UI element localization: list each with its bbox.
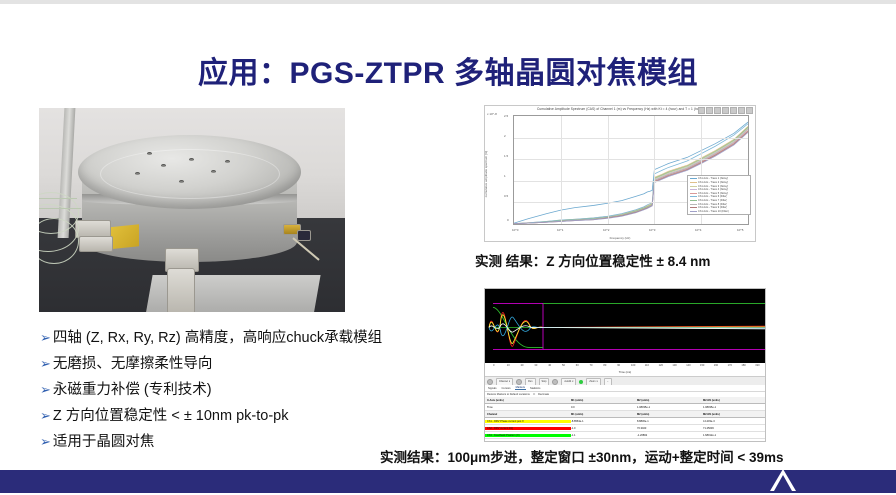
page-title: 应用：PGS-ZTPR 多轴晶圆对焦模组	[0, 48, 896, 92]
cell-m1: -8.8563e-1	[571, 420, 637, 423]
chart-y-exponent: x 10^-8	[487, 112, 497, 116]
cell-m1: -1.1	[571, 434, 637, 437]
scope-traces-group	[485, 289, 765, 363]
col-m2: M2 (units)	[637, 413, 703, 416]
scope-x-tick: 150	[700, 364, 704, 367]
tab-signals[interactable]: Signals	[487, 387, 498, 390]
cursor-icon[interactable]	[722, 107, 729, 114]
cell-m2: 70.3023	[637, 427, 703, 430]
zoom-in-icon[interactable]	[698, 107, 705, 114]
tab-cursors[interactable]: Cursors	[501, 387, 512, 390]
chart-y-tick: 0	[507, 218, 509, 222]
legend-swatch	[690, 207, 697, 208]
decimate-checkbox[interactable]: ☐	[533, 393, 535, 396]
pan-icon[interactable]	[714, 107, 721, 114]
datatip-icon[interactable]	[730, 107, 737, 114]
cell-m2: 8.8836e-1	[637, 420, 703, 423]
chart-caption: 实测 结果：Z 方向位置稳定性 ± 8.4 nm	[475, 250, 710, 270]
chart-x-tick: 10^4	[695, 228, 701, 232]
legend-label: Ch1 Axis - Trace 6 (Filter)	[698, 195, 727, 198]
zoom-out-icon[interactable]	[706, 107, 713, 114]
chart-toolbar[interactable]	[698, 107, 753, 114]
company-logo-icon	[762, 465, 804, 495]
table-row: Ch1 - DRV Phase current pos X-8.8563e-18…	[485, 418, 765, 425]
legend-swatch	[690, 204, 697, 205]
restore-markers-button[interactable]: Restore Markers to Default Locations	[487, 393, 530, 396]
chart-x-tick: 10^0	[512, 228, 518, 232]
list-item-label: Z 方向位置稳定性 < ± 10nm pk-to-pk	[53, 407, 289, 425]
list-item-label: 无磨损、无摩擦柔性导向	[53, 355, 213, 373]
list-item: ➢ 永磁重力补偿 (专利技术)	[40, 381, 440, 399]
table-row: Ch4 - Feedback Velocity (X)4.1036e-11.04…	[485, 439, 765, 442]
legend-swatch	[690, 211, 697, 212]
decimate-label: Decimate	[538, 393, 549, 396]
legend-swatch	[690, 189, 697, 190]
chart-x-tick: 10^3	[649, 228, 655, 232]
bullet-marker-icon: ➢	[40, 381, 51, 399]
chart-x-tick: 10^1	[557, 228, 563, 232]
scope-x-tick: 190	[755, 364, 759, 367]
list-item-label: 永磁重力补偿 (专利技术)	[53, 381, 212, 399]
col-m2m1: M2-M1 (units)	[703, 399, 765, 402]
scope-x-tick: 10	[507, 364, 510, 367]
chart-x-axis-label: Frequency (Hz)	[485, 236, 755, 240]
cell-m2: -1.20862	[637, 434, 703, 437]
scope-x-tick: 50	[562, 364, 565, 367]
table-row: Ch3 - Feedback Position (X)-1.1-1.208621…	[485, 432, 765, 439]
legend-icon[interactable]	[738, 107, 745, 114]
bullet-marker-icon: ➢	[40, 329, 51, 347]
cell-m2: 1.04351e-2	[637, 441, 703, 443]
legend-label: Ch1 Axis - Trace 1 (Noisy)	[698, 177, 728, 180]
photo-bolt-hole	[161, 164, 166, 167]
legend-swatch	[690, 200, 697, 201]
scope-x-tick: 160	[714, 364, 718, 367]
cell-m1: 0.0	[571, 406, 637, 409]
col-x-axis: X-Axis (units)	[485, 399, 571, 402]
chart-y-tick: 2	[504, 134, 506, 138]
col-channel: Channel	[485, 413, 571, 416]
scope-plot-area	[485, 289, 765, 363]
chart-y-tick: 1.5	[504, 154, 508, 158]
cell-m2m1: 4.1203e-3	[703, 420, 765, 423]
record-icon[interactable]	[516, 379, 522, 385]
list-item: ➢ Z 方向位置稳定性 < ± 10nm pk-to-pk	[40, 407, 440, 425]
legend-label: Ch1 Axis - Trace 4 (Noisy)	[698, 188, 728, 191]
cell-m2m1: 71.25636	[703, 427, 765, 430]
table-row: Ch2 - DRV current DQ-1.070.302371.25636	[485, 425, 765, 432]
legend-label: Ch1 Axis - Trace 8 (Filter)	[698, 203, 727, 206]
legend-swatch	[690, 182, 697, 183]
table-row: Time 0.0 1.08035e-1 1.08035e-1	[485, 404, 765, 411]
legend-label: Ch1 Axis - Trace 10 (Filter)	[698, 210, 729, 213]
cell-m2m1: 1.68012e-1	[703, 434, 765, 437]
chart-y-axis-label: cumulative amplitude spectrum [m]	[484, 124, 488, 224]
tab-statistics[interactable]: Statistics	[529, 387, 541, 390]
legend-label: Ch1 Axis - Trace 5 (Noisy)	[698, 192, 728, 195]
scope-x-tick: 80	[603, 364, 606, 367]
cell-m2m1: 1.08035e-1	[703, 406, 765, 409]
refresh-icon[interactable]	[552, 379, 558, 385]
cell-x-axis: Time	[485, 406, 571, 409]
col-m2m1: M2-M1 (units)	[703, 413, 765, 416]
legend-swatch	[690, 196, 697, 197]
cell-m2: 1.08035e-1	[637, 406, 703, 409]
list-item: ➢ 四轴 (Z, Rx, Ry, Rz) 高精度，高响应chuck承载模组	[40, 329, 440, 347]
legend-label: Ch1 Axis - Trace 9 (Filter)	[698, 206, 727, 209]
photo-bolt-hole	[211, 170, 216, 173]
photo-wire	[39, 208, 81, 209]
cell-channel: Ch3 - Feedback Position (X)	[485, 434, 571, 437]
chart-y-tick: 1	[504, 174, 506, 178]
scope-x-tick: 140	[686, 364, 690, 367]
scope-capture-panel: Time (ms) 010203040506070809010011012013…	[484, 288, 766, 442]
photo-bolt-hole	[189, 158, 194, 161]
chart-x-tick: 10^5	[737, 228, 743, 232]
cell-channel: Ch2 - DRV current DQ	[485, 427, 571, 430]
scope-x-tick: 70	[590, 364, 593, 367]
cell-m1: -1.0	[571, 427, 637, 430]
bullet-marker-icon: ➢	[40, 355, 51, 373]
top-strip	[0, 0, 896, 4]
legend-label: Ch1 Axis - Trace 3 (Noisy)	[698, 185, 728, 188]
scope-x-tick: 170	[728, 364, 732, 367]
photo-connector	[79, 236, 113, 252]
scope-x-tick: 130	[672, 364, 676, 367]
feature-bullet-list: ➢ 四轴 (Z, Rx, Ry, Rz) 高精度，高响应chuck承载模组 ➢ …	[40, 329, 440, 459]
scope-x-tick: 90	[617, 364, 620, 367]
bullet-marker-icon: ➢	[40, 407, 51, 425]
legend-swatch	[690, 178, 697, 179]
cell-m1: 4.1036e-1	[571, 441, 637, 443]
scope-x-axis: Time (ms) 010203040506070809010011012013…	[485, 363, 765, 376]
col-m1: M1 (units)	[571, 399, 637, 402]
list-item-label: 四轴 (Z, Rx, Ry, Rz) 高精度，高响应chuck承载模组	[53, 329, 382, 347]
photo-bolt-hole	[179, 180, 184, 183]
legend-label: Ch1 Axis - Trace 7 (Filter)	[698, 199, 727, 202]
scope-x-tick: 60	[576, 364, 579, 367]
table-header-row: X-Axis (units) M1 (units) M2 (units) M2-…	[485, 397, 765, 404]
save-icon[interactable]	[746, 107, 753, 114]
tab-markers[interactable]: Markers	[515, 386, 526, 390]
chart-x-tick: 10^2	[603, 228, 609, 232]
col-m2: M2 (units)	[637, 399, 703, 402]
scope-x-tick: 20	[521, 364, 524, 367]
col-m1: M1 (units)	[571, 413, 637, 416]
photo-fitting	[297, 230, 311, 241]
cell-channel: Ch1 - DRV Phase current pos X	[485, 420, 571, 423]
chart-y-tick: 2.5	[504, 114, 508, 118]
legend-item: Ch1 Axis - Trace 10 (Filter)	[690, 209, 748, 213]
photo-stage-ring	[100, 149, 280, 199]
chart-legend: Ch1 Axis - Trace 1 (Noisy)Ch1 Axis - Tra…	[687, 175, 751, 215]
scope-x-axis-label: Time (ms)	[485, 370, 765, 374]
list-item-label: 适用于晶圆对焦	[53, 433, 155, 451]
settings-icon[interactable]	[487, 379, 493, 385]
scope-x-tick: 100	[631, 364, 635, 367]
scope-x-tick: 180	[741, 364, 745, 367]
status-indicator	[579, 380, 583, 384]
chart-y-tick: 0.5	[504, 194, 508, 198]
photo-cable-bundle	[167, 268, 195, 312]
legend-label: Ch1 Axis - Trace 2 (Noisy)	[698, 181, 728, 184]
legend-swatch	[690, 193, 697, 194]
cell-channel: Ch4 - Feedback Velocity (X)	[485, 441, 571, 443]
scope-x-tick: 30	[534, 364, 537, 367]
photo-bolt-hole	[147, 152, 152, 155]
cell-m2m1: 1.70653e-2	[703, 441, 765, 443]
footer-bar	[0, 470, 896, 493]
scope-x-tick: 40	[548, 364, 551, 367]
photo-bolt-hole	[135, 172, 140, 175]
legend-swatch	[690, 186, 697, 187]
bullet-marker-icon: ➢	[40, 433, 51, 451]
marker-table: X-Axis (units) M1 (units) M2 (units) M2-…	[485, 397, 765, 442]
photo-wire	[39, 198, 77, 199]
cas-spectrum-chart: Cumulative Amplitude Spectrum (CAS) of C…	[484, 105, 756, 242]
scope-x-tick: 110	[645, 364, 649, 367]
module-photo	[39, 108, 345, 312]
table-header-row: Channel M1 (units) M2 (units) M2-M1 (uni…	[485, 411, 765, 418]
photo-bolt-hole	[225, 160, 230, 163]
scope-caption: 实测结果：100μm步进，整定窗口 ±30nm，运动+整定时间 < 39ms	[380, 446, 784, 466]
list-item: ➢ 无磨损、无摩擦柔性导向	[40, 355, 440, 373]
slide-root: 应用：PGS-ZTPR 多轴晶圆对焦模组 ➢ 四轴	[0, 0, 896, 493]
scope-x-tick: 0	[493, 364, 494, 367]
scope-x-tick: 120	[659, 364, 663, 367]
